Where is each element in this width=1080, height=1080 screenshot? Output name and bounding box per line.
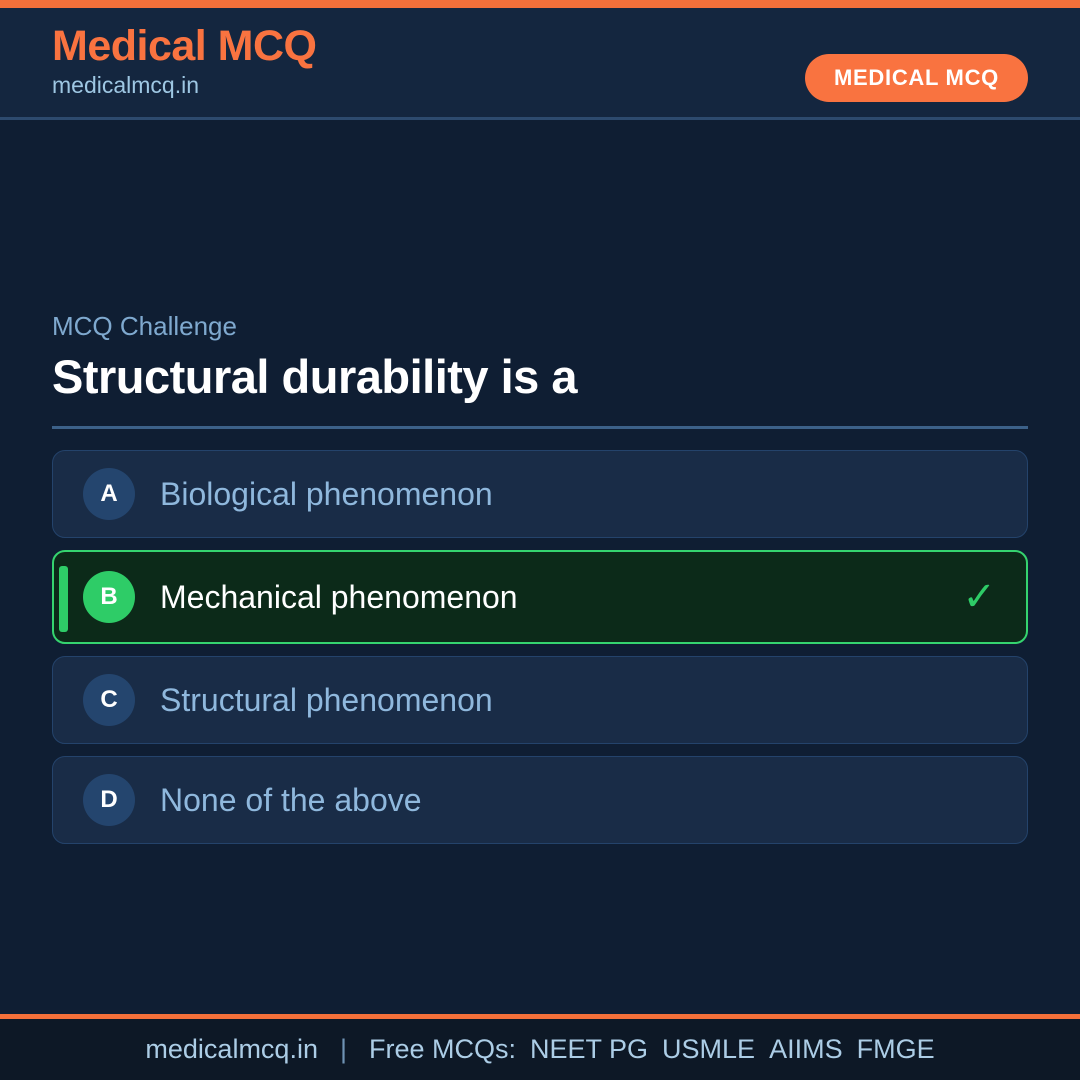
option-letter-badge: A (83, 468, 135, 520)
header-badge: MEDICAL MCQ (805, 54, 1028, 102)
top-accent-bar (0, 0, 1080, 8)
question-text: Structural durability is a (52, 350, 1028, 404)
option-letter-badge: C (83, 674, 135, 726)
footer-label: Free MCQs: (369, 1034, 516, 1065)
option-letter-badge: D (83, 774, 135, 826)
footer-separator: | (340, 1034, 347, 1065)
brand-subtitle: medicalmcq.in (52, 72, 317, 100)
brand: Medical MCQ medicalmcq.in (52, 22, 317, 100)
selection-accent-bar (59, 566, 68, 632)
footer-exam-aiims[interactable]: AIIMS (769, 1034, 843, 1065)
option-d[interactable]: D None of the above (52, 756, 1028, 844)
option-b[interactable]: B Mechanical phenomenon ✓ (52, 550, 1028, 644)
option-label: None of the above (160, 781, 422, 819)
option-label: Structural phenomenon (160, 681, 493, 719)
footer-site-link[interactable]: medicalmcq.in (145, 1034, 318, 1065)
footer-exam-neet-pg[interactable]: NEET PG (530, 1034, 648, 1065)
footer-exam-usmle[interactable]: USMLE (662, 1034, 755, 1065)
divider (52, 426, 1028, 429)
option-label: Biological phenomenon (160, 475, 493, 513)
eyebrow-label: MCQ Challenge (52, 310, 1028, 344)
page-header: Medical MCQ medicalmcq.in MEDICAL MCQ (0, 8, 1080, 120)
option-a[interactable]: A Biological phenomenon (52, 450, 1028, 538)
option-label: Mechanical phenomenon (160, 578, 518, 616)
option-c[interactable]: C Structural phenomenon (52, 656, 1028, 744)
page-footer: medicalmcq.in | Free MCQs: NEET PG USMLE… (0, 1014, 1080, 1080)
main-content: MCQ Challenge Structural durability is a… (52, 310, 1028, 856)
check-icon: ✓ (962, 577, 996, 617)
brand-title: Medical MCQ (52, 22, 317, 70)
footer-exam-fmge[interactable]: FMGE (857, 1034, 935, 1065)
options-list: A Biological phenomenon B Mechanical phe… (52, 450, 1028, 844)
option-letter-badge: B (83, 571, 135, 623)
footer-content: medicalmcq.in | Free MCQs: NEET PG USMLE… (145, 1034, 934, 1065)
